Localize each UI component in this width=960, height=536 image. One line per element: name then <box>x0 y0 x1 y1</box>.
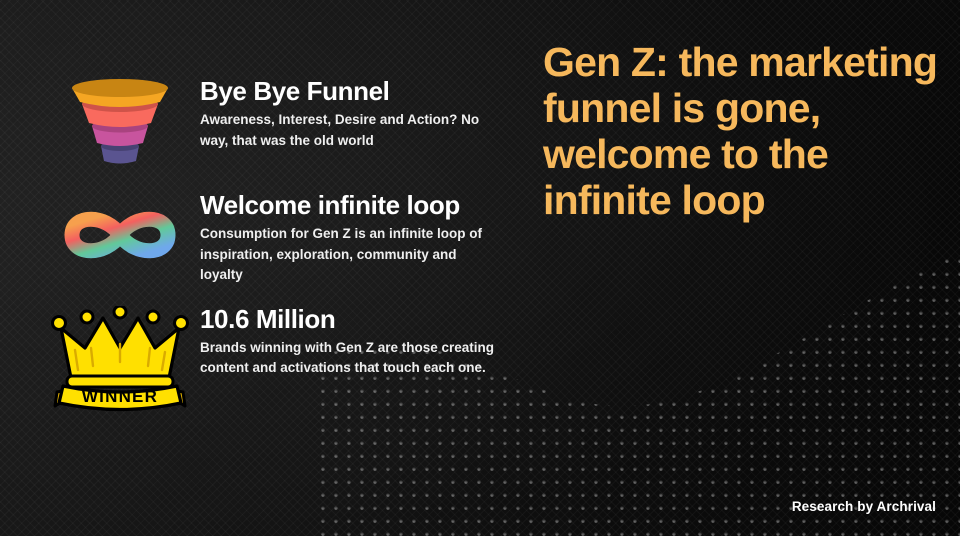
winner-text-container: 10.6 Million Brands winning with Gen Z a… <box>200 302 520 379</box>
crown-icon-container: WINNER <box>40 302 200 416</box>
block-description: Consumption for Gen Z is an infinite loo… <box>200 224 500 286</box>
infinity-text-container: Welcome infinite loop Consumption for Ge… <box>200 188 520 286</box>
headline: Gen Z: the marketing funnel is gone, wel… <box>543 40 943 224</box>
winner-crown-icon: WINNER <box>45 306 195 416</box>
slide-canvas: Bye Bye Funnel Awareness, Interest, Desi… <box>0 0 960 536</box>
footer-attribution: Research by Archrival <box>792 499 936 514</box>
block-description: Brands winning with Gen Z are those crea… <box>200 338 500 379</box>
infinity-icon-container <box>40 188 200 278</box>
winner-banner-text: WINNER <box>82 387 158 406</box>
block-description: Awareness, Interest, Desire and Action? … <box>200 110 500 151</box>
funnel-icon <box>66 78 174 170</box>
funnel-text-container: Bye Bye Funnel Awareness, Interest, Desi… <box>200 74 520 151</box>
funnel-icon-container <box>40 74 200 170</box>
infinity-loop-icon <box>44 192 196 278</box>
block-title: Welcome infinite loop <box>200 190 520 220</box>
content-block-winner: WINNER 10.6 Million Brands winning with … <box>40 302 520 416</box>
block-title: 10.6 Million <box>200 304 520 334</box>
content-block-infinite-loop: Welcome infinite loop Consumption for Ge… <box>40 188 520 286</box>
block-title: Bye Bye Funnel <box>200 76 520 106</box>
content-block-funnel: Bye Bye Funnel Awareness, Interest, Desi… <box>40 74 520 170</box>
left-content-column: Bye Bye Funnel Awareness, Interest, Desi… <box>0 0 520 536</box>
